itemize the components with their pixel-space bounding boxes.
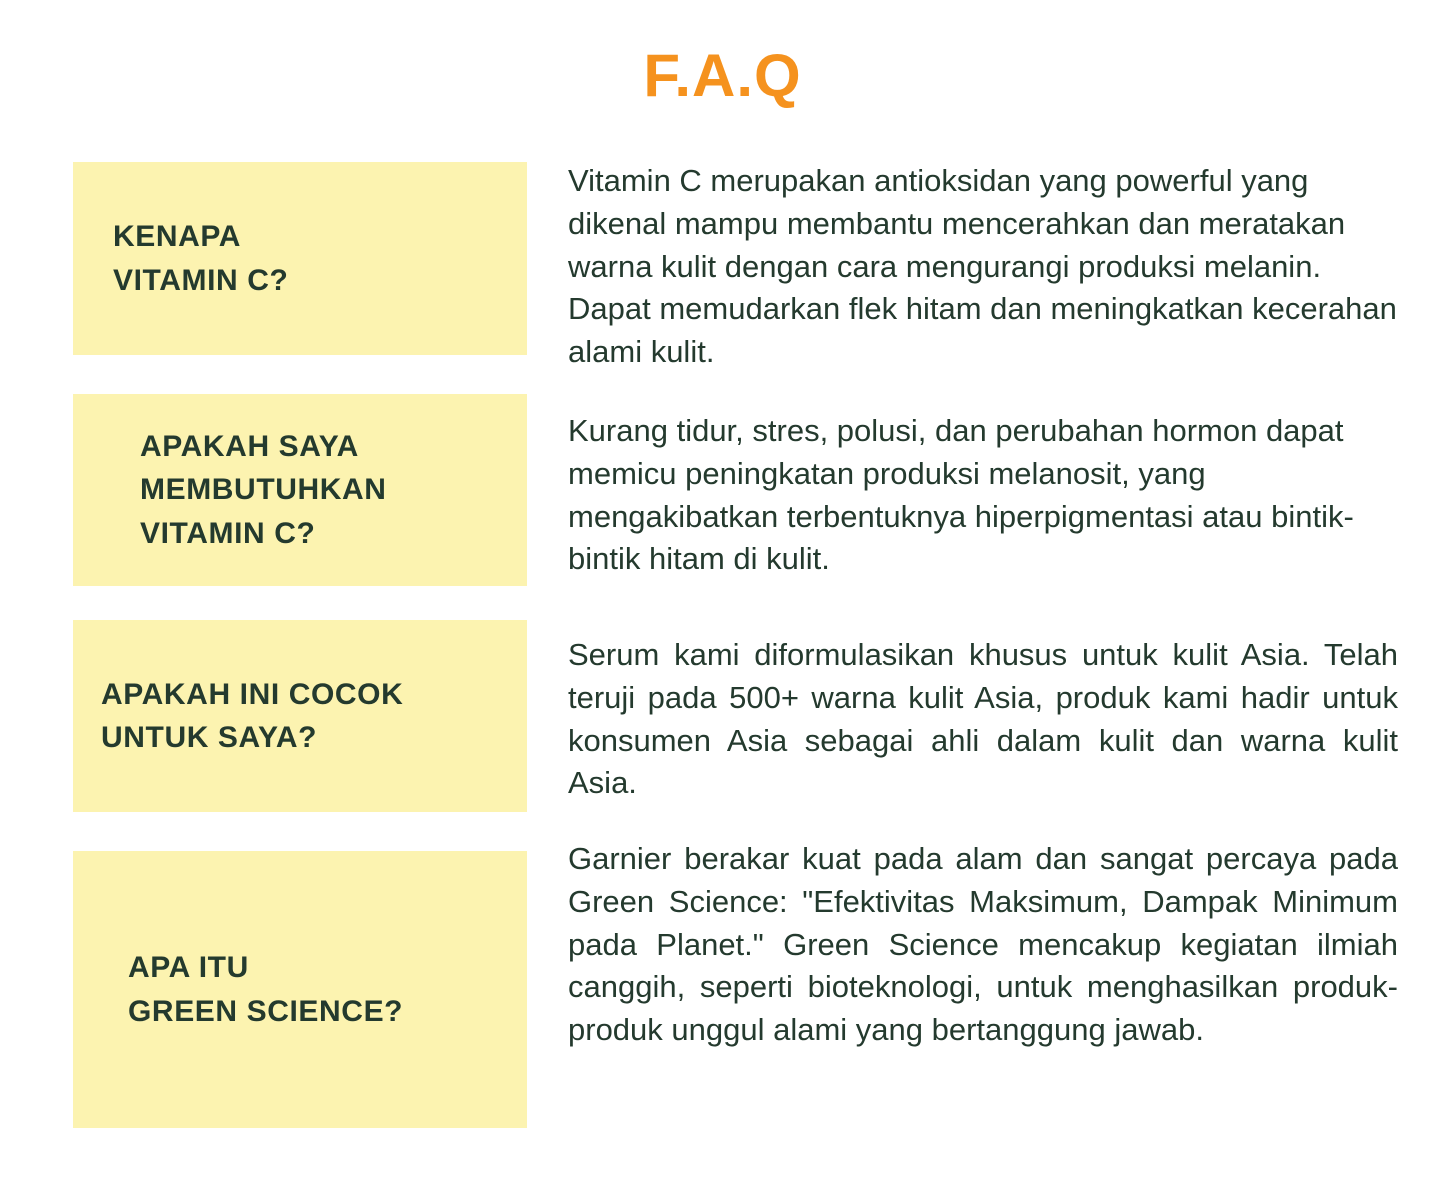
faq-question-text: APAKAH INI COCOK UNTUK SAYA? <box>101 673 403 760</box>
faq-question-text: KENAPA VITAMIN C? <box>113 215 288 302</box>
faq-question-text: APA ITU GREEN SCIENCE? <box>128 946 403 1033</box>
faq-answer-text: Garnier berakar kuat pada alam dan sanga… <box>568 838 1398 1052</box>
faq-answer-text: Kurang tidur, stres, polusi, dan perubah… <box>568 410 1398 581</box>
faq-answer-text: Serum kami diformulasikan khusus untuk k… <box>568 634 1398 805</box>
faq-list: KENAPA VITAMIN C? Vitamin C merupakan an… <box>0 0 1445 1186</box>
faq-question-box[interactable]: KENAPA VITAMIN C? <box>73 162 527 355</box>
faq-question-text: APAKAH SAYA MEMBUTUHKAN VITAMIN C? <box>140 425 387 556</box>
faq-question-box[interactable]: APAKAH SAYA MEMBUTUHKAN VITAMIN C? <box>73 394 527 586</box>
faq-answer-text: Vitamin C merupakan antioksidan yang pow… <box>568 160 1398 374</box>
faq-question-box[interactable]: APAKAH INI COCOK UNTUK SAYA? <box>73 620 527 812</box>
faq-question-box[interactable]: APA ITU GREEN SCIENCE? <box>73 851 527 1128</box>
